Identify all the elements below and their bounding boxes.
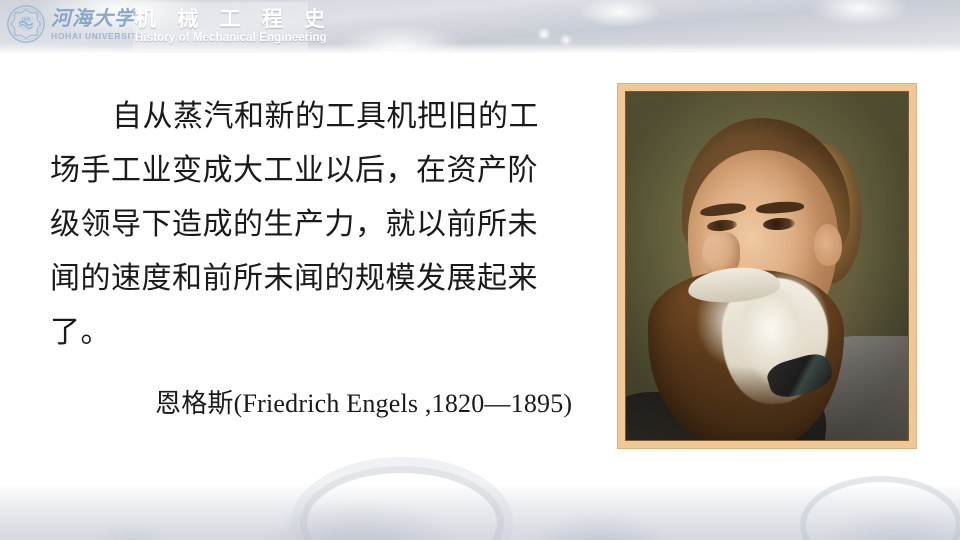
- university-logo-text: 河海大学 HOHAI UNIVERSITY: [51, 8, 143, 41]
- slide-canvas: 1915 河海大学 HOHAI UNIVERSITY 机 械 工 程 史 His…: [0, 0, 960, 540]
- quote-line: 自从蒸汽和新的工具机把旧的工: [50, 90, 590, 144]
- course-title-block: 机 械 工 程 史 History of Mechanical Engineer…: [133, 2, 308, 51]
- quote-line: 级领导下造成的生产力，就以前所未: [50, 198, 590, 252]
- quote-block: 自从蒸汽和新的工具机把旧的工 场手工业变成大工业以后，在资产阶 级领导下造成的生…: [50, 90, 590, 360]
- hohai-university-seal-icon: 1915: [6, 4, 46, 44]
- portrait-image: [625, 91, 909, 441]
- quote-line: 场手工业变成大工业以后，在资产阶: [50, 144, 590, 198]
- svg-text:1915: 1915: [22, 16, 32, 21]
- university-logo: 1915 河海大学 HOHAI UNIVERSITY: [6, 4, 143, 44]
- university-name-en: HOHAI UNIVERSITY: [51, 32, 143, 41]
- quote-line: 闻的速度和前所未闻的规模发展起来: [50, 252, 590, 306]
- quote-line: 了。: [50, 306, 590, 360]
- slide-header: 1915 河海大学 HOHAI UNIVERSITY 机 械 工 程 史 His…: [0, 0, 960, 53]
- friedrich-engels-portrait: [618, 84, 916, 448]
- course-title-cn: 机 械 工 程 史: [135, 3, 333, 33]
- course-title-en: History of Mechanical Engineering: [135, 32, 327, 44]
- university-name-cn: 河海大学: [51, 9, 143, 29]
- quote-attribution: 恩格斯(Friedrich Engels ,1820—1895): [155, 383, 572, 420]
- portrait-ear: [814, 224, 842, 266]
